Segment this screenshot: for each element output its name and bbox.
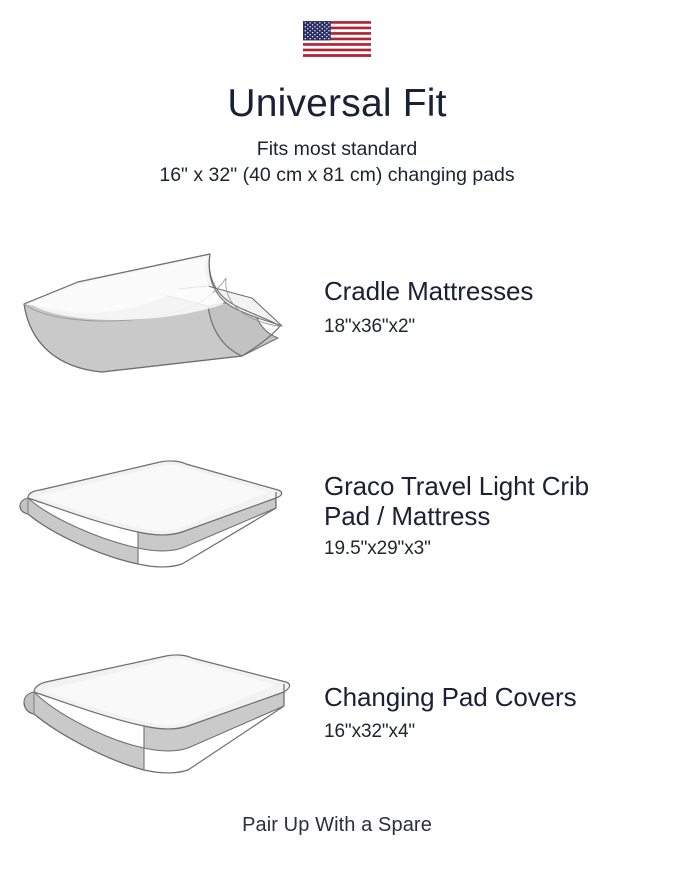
flag-canton [303,21,331,40]
product-info: Changing Pad Covers 16"x32"x4" [320,682,674,743]
contoured-changing-pad-icon [10,232,310,382]
flag-container [0,20,674,58]
product-dimensions: 19.5"x29"x3" [324,538,674,560]
us-flag-icon [303,20,371,58]
product-name-line-2: Pad / Mattress [324,501,674,531]
thin-flat-mattress-icon [10,456,310,576]
subtitle-line-2: 16" x 32" (40 cm x 81 cm) changing pads [0,162,674,188]
thick-flat-mattress-icon [10,650,310,775]
page-subtitle: Fits most standard 16" x 32" (40 cm x 81… [0,136,674,189]
product-illustration [0,650,320,775]
product-info: Graco Travel Light Crib Pad / Mattress 1… [320,471,674,560]
product-dimensions: 18"x36"x2" [324,316,674,338]
product-illustration [0,456,320,576]
header: Universal Fit Fits most standard 16" x 3… [0,82,674,188]
product-row: Graco Travel Light Crib Pad / Mattress 1… [0,448,674,583]
product-illustration [0,232,320,382]
subtitle-line-1: Fits most standard [0,136,674,162]
product-info: Cradle Mattresses 18"x36"x2" [320,276,674,337]
page-title: Universal Fit [0,82,674,127]
footer-tagline: Pair Up With a Spare [0,814,674,837]
product-name-line-1: Graco Travel Light Crib [324,471,674,501]
product-row: Changing Pad Covers 16"x32"x4" [0,645,674,780]
product-name: Graco Travel Light Crib Pad / Mattress [324,471,674,531]
product-dimensions: 16"x32"x4" [324,721,674,743]
product-name: Changing Pad Covers [324,682,674,712]
product-row: Cradle Mattresses 18"x36"x2" [0,232,674,382]
product-name: Cradle Mattresses [324,276,674,306]
